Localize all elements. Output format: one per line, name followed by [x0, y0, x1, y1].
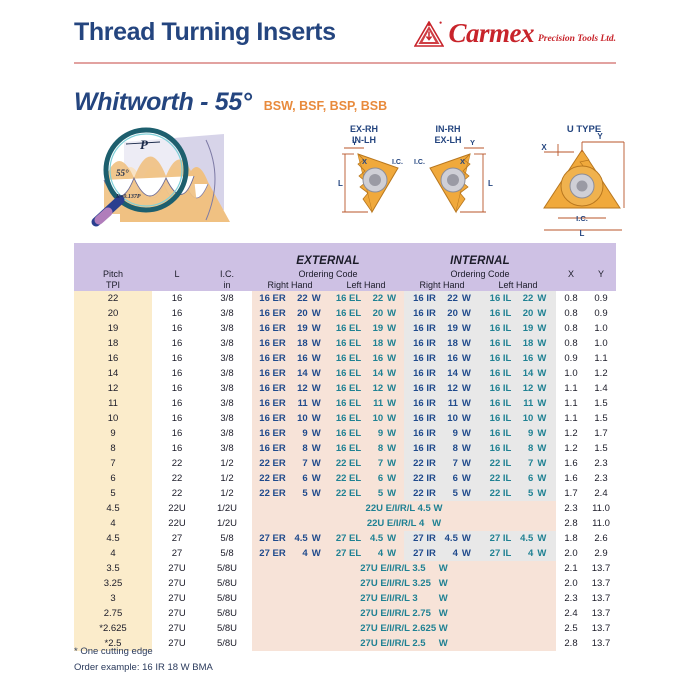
code-prefix: 16 ER — [259, 353, 285, 364]
code-suffix: W — [462, 338, 471, 349]
cell-code-el: 16 EL20W — [328, 306, 404, 321]
code-size: 4.5 — [440, 533, 458, 544]
code-prefix: 16 ER — [259, 443, 285, 454]
cell-code-il: 27 IL4.5W — [480, 531, 556, 546]
section-subtitle: Whitworth - 55° BSW, BSF, BSP, BSB — [74, 88, 387, 117]
code-prefix: 27 ER — [259, 548, 285, 559]
cell-l: 16 — [152, 321, 202, 336]
code-suffix: W — [312, 368, 321, 379]
code-suffix: W — [312, 293, 321, 304]
insert-ex-lh-label: EX-LH — [435, 135, 462, 145]
code-suffix: W — [387, 383, 396, 394]
footnote-cutting-edge: * One cutting edge — [74, 644, 213, 660]
code-prefix: 22 IR — [413, 473, 436, 484]
cell-l: 16 — [152, 411, 202, 426]
code-size: 10 — [365, 413, 383, 424]
code-prefix: 22 IL — [490, 488, 512, 499]
cell-code-el: 22 EL7W — [328, 456, 404, 471]
insert-in-rh-label: IN-RH — [436, 124, 461, 134]
cell-code-er: 16 ER10W — [252, 411, 328, 426]
code-suffix: W — [462, 533, 471, 544]
cell-y: 2.4 — [586, 486, 616, 501]
code-size: 14 — [515, 368, 533, 379]
header-pitch: Pitch TPI — [74, 243, 152, 291]
cell-l: 27U — [152, 576, 202, 591]
cell-code-il: 22 IL6W — [480, 471, 556, 486]
cell-l: 22 — [152, 456, 202, 471]
cell-pitch-tpi: 6 — [74, 471, 152, 486]
code-suffix: W — [462, 413, 471, 424]
dim-ic-u: I.C. — [576, 214, 588, 223]
code-prefix: 22 EL — [336, 488, 361, 499]
cell-pitch-tpi: 5 — [74, 486, 152, 501]
cell-x: 2.4 — [556, 606, 586, 621]
cell-code-ir: 16 IR14W — [404, 366, 480, 381]
code-prefix: 16 IR — [413, 443, 436, 454]
code-size: 8 — [290, 443, 308, 454]
cell-code-ir: 16 IR9W — [404, 426, 480, 441]
code-suffix: W — [537, 473, 546, 484]
cell-y: 11.0 — [586, 516, 616, 531]
cell-l: 27U — [152, 621, 202, 636]
code-prefix: 22 ER — [259, 458, 285, 469]
code-suffix: W — [387, 338, 396, 349]
dim-x-u: X — [541, 143, 547, 152]
cell-code-il: 16 IL18W — [480, 336, 556, 351]
code-size: 12 — [365, 383, 383, 394]
table-row: 19163/816 ER19W16 EL19W16 IR19W16 IL19W0… — [74, 321, 616, 336]
cell-code-el: 16 EL22W — [328, 291, 404, 306]
code-size: 6 — [365, 473, 383, 484]
code-prefix: 16 IR — [413, 323, 436, 334]
code-size: 10 — [290, 413, 308, 424]
code-suffix: W — [537, 368, 546, 379]
code-size: 7 — [365, 458, 383, 469]
table-row: 7221/222 ER7W22 EL7W22 IR7W22 IL7W1.62.3 — [74, 456, 616, 471]
cell-code-el: 16 EL12W — [328, 381, 404, 396]
code-suffix: W — [462, 368, 471, 379]
cell-code-er: 16 ER19W — [252, 321, 328, 336]
code-size: 19 — [515, 323, 533, 334]
cell-pitch-tpi: 22 — [74, 291, 152, 306]
footnotes: * One cutting edge Order example: 16 IR … — [74, 644, 213, 675]
table-row: 6221/222 ER6W22 EL6W22 IR6W22 IL6W1.62.3 — [74, 471, 616, 486]
code-universal-text: 27U E/I/R/L 3 W — [360, 593, 447, 604]
cell-y: 13.7 — [586, 636, 616, 651]
code-suffix: W — [312, 533, 321, 544]
code-suffix: W — [462, 428, 471, 439]
cell-code-er: 16 ER8W — [252, 441, 328, 456]
code-suffix: W — [312, 458, 321, 469]
cell-code-universal: 27U E/I/R/L 2.5 W — [252, 636, 556, 651]
code-prefix: 16 IR — [413, 398, 436, 409]
cell-pitch-tpi: 2.75 — [74, 606, 152, 621]
code-size: 11 — [290, 398, 308, 409]
code-size: 20 — [440, 308, 458, 319]
cell-ic: 3/8 — [202, 441, 252, 456]
code-prefix: 16 ER — [259, 383, 285, 394]
code-prefix: 22 IL — [490, 458, 512, 469]
code-prefix: 27 EL — [336, 548, 361, 559]
insert-orientation-figures: EX-RH IN-LH IN-RH EX-LH L Y X — [320, 120, 508, 237]
cell-x: 2.5 — [556, 621, 586, 636]
table-row: 8163/816 ER8W16 EL8W16 IR8W16 IL8W1.21.5 — [74, 441, 616, 456]
cell-code-el: 16 EL10W — [328, 411, 404, 426]
cell-ic: 3/8 — [202, 411, 252, 426]
code-suffix: W — [387, 413, 396, 424]
code-suffix: W — [537, 488, 546, 499]
carmex-triangle-logo-icon — [414, 21, 444, 47]
cell-code-el: 22 EL6W — [328, 471, 404, 486]
cell-l: 27U — [152, 561, 202, 576]
cell-y: 1.2 — [586, 366, 616, 381]
table-row: 3.2527U5/8U27U E/I/R/L 3.25 W2.013.7 — [74, 576, 616, 591]
thread-standard-title: Whitworth - 55° — [74, 88, 252, 117]
code-size: 9 — [440, 428, 458, 439]
cell-x: 1.1 — [556, 411, 586, 426]
dim-ic-right: I.C. — [414, 159, 425, 166]
code-suffix: W — [387, 353, 396, 364]
code-suffix: W — [537, 428, 546, 439]
cell-ic: 5/8U — [202, 576, 252, 591]
code-size: 12 — [290, 383, 308, 394]
header-y: Y . — [586, 243, 616, 291]
code-size: 5 — [290, 488, 308, 499]
cell-l: 27U — [152, 606, 202, 621]
page-header: Thread Turning Inserts Carmex Precision … — [74, 18, 616, 64]
cell-pitch-tpi: 16 — [74, 351, 152, 366]
cell-code-er: 16 ER14W — [252, 366, 328, 381]
table-row: 20163/816 ER20W16 EL20W16 IR20W16 IL20W0… — [74, 306, 616, 321]
code-prefix: 27 ER — [259, 533, 285, 544]
code-prefix: 16 IL — [490, 383, 512, 394]
code-size: 19 — [440, 323, 458, 334]
code-size: 4 — [365, 548, 383, 559]
code-prefix: 16 IL — [490, 428, 512, 439]
code-size: 12 — [440, 383, 458, 394]
cell-x: 1.6 — [556, 471, 586, 486]
header-divider — [74, 62, 616, 64]
insert-ex-rh-label: EX-RH — [350, 124, 378, 134]
code-prefix: 16 IR — [413, 293, 436, 304]
code-prefix: 16 EL — [336, 383, 361, 394]
table-row: 4275/827 ER4W27 EL4W27 IR4W27 IL4W2.02.9 — [74, 546, 616, 561]
cell-code-er: 22 ER6W — [252, 471, 328, 486]
code-suffix: W — [387, 368, 396, 379]
cell-code-ir: 27 IR4.5W — [404, 531, 480, 546]
cell-y: 2.3 — [586, 471, 616, 486]
cell-ic: 3/8 — [202, 366, 252, 381]
cell-code-il: 27 IL4W — [480, 546, 556, 561]
code-size: 18 — [515, 338, 533, 349]
code-prefix: 16 IL — [490, 323, 512, 334]
code-suffix: W — [312, 323, 321, 334]
code-size: 19 — [365, 323, 383, 334]
cell-y: 1.1 — [586, 351, 616, 366]
thread-standard-codes: BSW, BSF, BSP, BSB — [264, 99, 387, 113]
code-size: 6 — [440, 473, 458, 484]
cell-ic: 5/8 — [202, 546, 252, 561]
cell-l: 22 — [152, 486, 202, 501]
code-suffix: W — [387, 533, 396, 544]
code-size: 14 — [290, 368, 308, 379]
code-prefix: 16 EL — [336, 398, 361, 409]
code-suffix: W — [462, 443, 471, 454]
dim-l-u: L — [580, 229, 585, 238]
cell-l: 16 — [152, 351, 202, 366]
code-prefix: 16 EL — [336, 353, 361, 364]
header-internal: INTERNAL Ordering Code Right Hand Left H… — [404, 243, 556, 291]
header-internal-rh: Right Hand — [404, 280, 480, 291]
table-row: 10163/816 ER10W16 EL10W16 IR10W16 IL10W1… — [74, 411, 616, 426]
code-prefix: 16 ER — [259, 428, 285, 439]
code-prefix: 16 ER — [259, 293, 285, 304]
code-suffix: W — [537, 533, 546, 544]
cell-y: 13.7 — [586, 606, 616, 621]
table-row: 18163/816 ER18W16 EL18W16 IR18W16 IL18W0… — [74, 336, 616, 351]
cell-code-ir: 22 IR5W — [404, 486, 480, 501]
table-row: 14163/816 ER14W16 EL14W16 IR14W16 IL14W1… — [74, 366, 616, 381]
cell-code-universal: 27U E/I/R/L 3.5 W — [252, 561, 556, 576]
code-prefix: 22 IR — [413, 458, 436, 469]
cell-ic: 1/2 — [202, 486, 252, 501]
cell-y: 1.4 — [586, 381, 616, 396]
code-size: 12 — [515, 383, 533, 394]
header-external-lh: Left Hand — [328, 280, 404, 291]
cell-y: 1.5 — [586, 411, 616, 426]
cell-code-er: 22 ER5W — [252, 486, 328, 501]
code-prefix: 16 IL — [490, 443, 512, 454]
cell-ic: 3/8 — [202, 381, 252, 396]
pitch-symbol: P — [140, 137, 149, 152]
code-size: 4.5 — [365, 533, 383, 544]
code-size: 9 — [290, 428, 308, 439]
cell-x: 1.8 — [556, 531, 586, 546]
code-suffix: W — [312, 398, 321, 409]
cell-code-il: 16 IL20W — [480, 306, 556, 321]
code-suffix: W — [462, 353, 471, 364]
code-suffix: W — [462, 458, 471, 469]
cell-y: 1.0 — [586, 321, 616, 336]
cell-x: 2.8 — [556, 636, 586, 651]
code-prefix: 16 IR — [413, 383, 436, 394]
cell-pitch-tpi: 19 — [74, 321, 152, 336]
cell-code-ir: 22 IR6W — [404, 471, 480, 486]
cell-y: 1.7 — [586, 426, 616, 441]
cell-l: 16 — [152, 291, 202, 306]
cell-code-ir: 22 IR7W — [404, 456, 480, 471]
code-size: 16 — [290, 353, 308, 364]
cell-ic: 3/8 — [202, 396, 252, 411]
cell-x: 2.8 — [556, 516, 586, 531]
code-size: 11 — [440, 398, 458, 409]
code-size: 6 — [290, 473, 308, 484]
logo-tagline: Precision Tools Ltd. — [538, 34, 616, 47]
code-size: 6 — [515, 473, 533, 484]
cell-ic: 1/2U — [202, 501, 252, 516]
code-prefix: 22 IL — [490, 473, 512, 484]
code-size: 7 — [440, 458, 458, 469]
cell-code-ir: 27 IR4W — [404, 546, 480, 561]
cell-l: 22U — [152, 501, 202, 516]
code-suffix: W — [462, 548, 471, 559]
cell-ic: 3/8 — [202, 426, 252, 441]
logo-wordmark: Carmex — [448, 20, 534, 47]
table-row: 11163/816 ER11W16 EL11W16 IR11W16 IL11W1… — [74, 396, 616, 411]
dim-x-left: X — [362, 157, 367, 166]
cell-ic: 5/8 — [202, 531, 252, 546]
table-row: 16163/816 ER16W16 EL16W16 IR16W16 IL16W0… — [74, 351, 616, 366]
header-external-rh: Right Hand — [252, 280, 328, 291]
cell-code-er: 27 ER4W — [252, 546, 328, 561]
cell-code-universal: 22U E/I/R/L 4 W — [252, 516, 556, 531]
cell-ic: 5/8U — [202, 606, 252, 621]
cell-pitch-tpi: 18 — [74, 336, 152, 351]
cell-ic: 3/8 — [202, 351, 252, 366]
code-suffix: W — [537, 308, 546, 319]
code-suffix: W — [312, 473, 321, 484]
cell-x: 2.3 — [556, 591, 586, 606]
code-size: 22 — [440, 293, 458, 304]
cell-x: 2.0 — [556, 546, 586, 561]
code-size: 8 — [365, 443, 383, 454]
cell-code-el: 16 EL19W — [328, 321, 404, 336]
code-size: 22 — [290, 293, 308, 304]
code-prefix: 16 ER — [259, 308, 285, 319]
header-internal-lh: Left Hand — [480, 280, 556, 291]
cell-pitch-tpi: 3.5 — [74, 561, 152, 576]
code-universal-text: 27U E/I/R/L 2.75 W — [360, 608, 447, 619]
cell-pitch-tpi: 20 — [74, 306, 152, 321]
cell-code-el: 16 EL16W — [328, 351, 404, 366]
code-suffix: W — [462, 308, 471, 319]
code-size: 18 — [290, 338, 308, 349]
cell-x: 0.8 — [556, 306, 586, 321]
cell-code-el: 16 EL9W — [328, 426, 404, 441]
cell-code-ir: 16 IR18W — [404, 336, 480, 351]
table-row: 9163/816 ER9W16 EL9W16 IR9W16 IL9W1.21.7 — [74, 426, 616, 441]
cell-y: 0.9 — [586, 291, 616, 306]
cell-ic: 1/2 — [202, 471, 252, 486]
cell-code-universal: 22U E/I/R/L 4.5 W — [252, 501, 556, 516]
cell-pitch-tpi: 7 — [74, 456, 152, 471]
cell-ic: 1/2U — [202, 516, 252, 531]
table-body: 22163/816 ER22W16 EL22W16 IR22W16 IL22W0… — [74, 291, 616, 651]
cell-code-er: 16 ER18W — [252, 336, 328, 351]
cell-y: 13.7 — [586, 576, 616, 591]
cell-pitch-tpi: 3.25 — [74, 576, 152, 591]
cell-l: 27 — [152, 546, 202, 561]
cell-code-ir: 16 IR19W — [404, 321, 480, 336]
header-l: L . — [152, 243, 202, 291]
cell-x: 0.8 — [556, 321, 586, 336]
cell-code-il: 16 IL19W — [480, 321, 556, 336]
u-type-label: U TYPE — [567, 124, 601, 135]
code-suffix: W — [537, 338, 546, 349]
angle-label: 55° — [116, 168, 129, 178]
cell-pitch-tpi: *2.625 — [74, 621, 152, 636]
table-row: 4.5275/827 ER4.5W27 EL4.5W27 IR4.5W27 IL… — [74, 531, 616, 546]
cell-code-il: 16 IL11W — [480, 396, 556, 411]
code-suffix: W — [312, 413, 321, 424]
code-size: 11 — [515, 398, 533, 409]
code-suffix: W — [537, 458, 546, 469]
cell-code-il: 16 IL8W — [480, 441, 556, 456]
cell-y: 1.5 — [586, 441, 616, 456]
code-suffix: W — [462, 488, 471, 499]
code-suffix: W — [312, 488, 321, 499]
code-suffix: W — [387, 308, 396, 319]
code-prefix: 16 EL — [336, 443, 361, 454]
cell-code-er: 27 ER4.5W — [252, 531, 328, 546]
code-suffix: W — [387, 428, 396, 439]
code-prefix: 16 ER — [259, 323, 285, 334]
dim-y-u: Y — [597, 132, 603, 141]
cell-code-el: 16 EL14W — [328, 366, 404, 381]
header-external: EXTERNAL Ordering Code Right Hand Left H… — [252, 243, 404, 291]
code-size: 7 — [290, 458, 308, 469]
dim-l-left: L — [338, 179, 343, 188]
cell-code-il: 22 IL7W — [480, 456, 556, 471]
cell-y: 13.7 — [586, 621, 616, 636]
code-size: 14 — [440, 368, 458, 379]
code-prefix: 22 EL — [336, 473, 361, 484]
cell-y: 1.0 — [586, 336, 616, 351]
carmex-logo: Carmex Precision Tools Ltd. — [414, 20, 616, 47]
table-row: *2.62527U5/8U27U E/I/R/L 2.625 W2.513.7 — [74, 621, 616, 636]
code-suffix: W — [537, 353, 546, 364]
footnote-order-example: Order example: 16 IR 18 W BMA — [74, 660, 213, 676]
cell-l: 16 — [152, 426, 202, 441]
cell-x: 2.3 — [556, 501, 586, 516]
cell-l: 16 — [152, 396, 202, 411]
code-prefix: 16 IR — [413, 308, 436, 319]
cell-ic: 5/8U — [202, 591, 252, 606]
cell-code-er: 16 ER16W — [252, 351, 328, 366]
code-prefix: 22 ER — [259, 473, 285, 484]
cell-ic: 3/8 — [202, 336, 252, 351]
dim-l-right: L — [488, 179, 493, 188]
dim-ic-left: I.C. — [392, 159, 403, 166]
code-suffix: W — [312, 383, 321, 394]
insert-shape-right: L Y X I.C. — [414, 138, 493, 212]
cell-x: 0.9 — [556, 351, 586, 366]
code-prefix: 16 IL — [490, 308, 512, 319]
code-suffix: W — [537, 413, 546, 424]
code-suffix: W — [387, 473, 396, 484]
cell-y: 0.9 — [586, 306, 616, 321]
code-size: 5 — [440, 488, 458, 499]
code-suffix: W — [312, 308, 321, 319]
code-universal-text: 27U E/I/R/L 3.5 W — [360, 563, 447, 574]
cell-code-er: 16 ER20W — [252, 306, 328, 321]
cell-x: 0.8 — [556, 336, 586, 351]
code-size: 4.5 — [515, 533, 533, 544]
cell-pitch-tpi: 10 — [74, 411, 152, 426]
cell-x: 2.1 — [556, 561, 586, 576]
table-row: 327U5/8U27U E/I/R/L 3 W2.313.7 — [74, 591, 616, 606]
code-size: 7 — [515, 458, 533, 469]
code-prefix: 27 EL — [336, 533, 361, 544]
code-prefix: 16 IL — [490, 398, 512, 409]
code-prefix: 16 IL — [490, 293, 512, 304]
code-size: 10 — [515, 413, 533, 424]
code-suffix: W — [462, 473, 471, 484]
cell-pitch-tpi: 9 — [74, 426, 152, 441]
cell-pitch-tpi: 4 — [74, 546, 152, 561]
cell-y: 11.0 — [586, 501, 616, 516]
radius-label: R=0.137P — [115, 194, 141, 200]
